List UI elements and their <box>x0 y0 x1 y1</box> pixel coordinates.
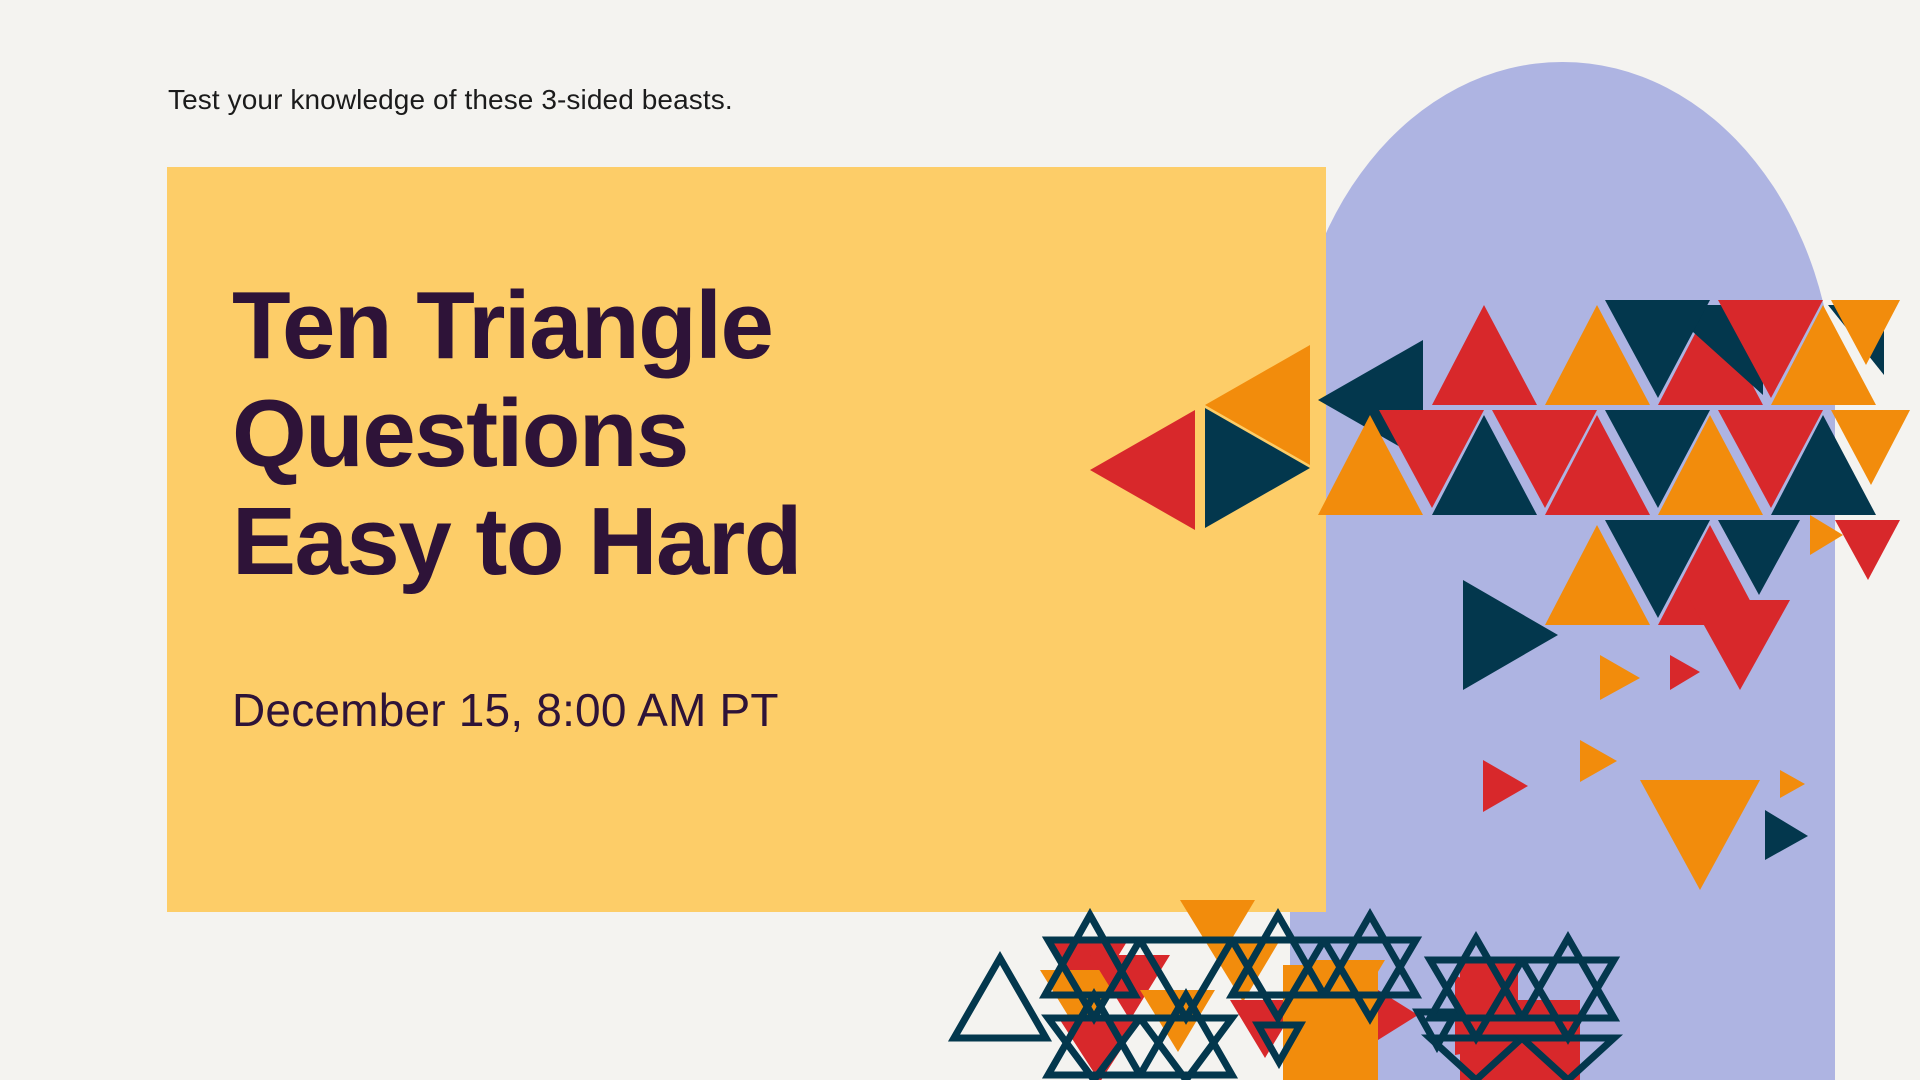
page-title: Ten Triangle Questions Easy to Hard <box>232 272 1072 596</box>
kicker-text: Test your knowledge of these 3-sided bea… <box>168 84 733 116</box>
lavender-arch-shape <box>1290 62 1835 1080</box>
title-line-3: Easy to Hard <box>232 488 1072 596</box>
title-line-1: Ten Triangle <box>232 272 1072 380</box>
title-line-2: Questions <box>232 380 1072 488</box>
promo-graphic-canvas: Test your knowledge of these 3-sided bea… <box>0 0 1920 1080</box>
event-datetime: December 15, 8:00 AM PT <box>232 683 779 737</box>
